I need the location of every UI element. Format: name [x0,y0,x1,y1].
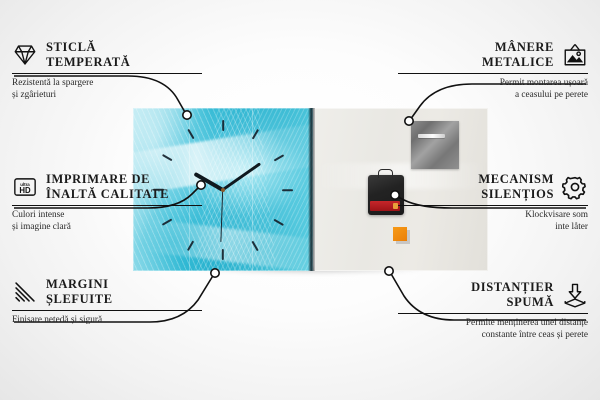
press-down-icon [562,282,588,308]
dial-tick [187,128,194,138]
clock-center-cap [221,188,225,192]
dial-tick [252,240,259,250]
svg-text:HD: HD [19,186,31,195]
feature-title: MARGINI ȘLEFUITE [46,277,113,307]
feature-metal-handles: MÂNERE METALICE Permit montarea ușoară a… [398,40,588,102]
feature-foam-spacer: DISTANȚIER SPUMĂ Permite menținerea unei… [398,280,588,342]
dial-tick [187,240,194,250]
feature-polished-edges: MARGINI ȘLEFUITE Finisare netedă și sigu… [12,277,202,326]
dial-tick [252,128,259,138]
feature-rule [398,205,588,206]
feature-header: MECANISM SILENȚIOS [398,172,588,202]
feature-header: MARGINI ȘLEFUITE [12,277,202,307]
feature-header: STICLĂ TEMPERATĂ [12,40,202,70]
feature-title: MÂNERE METALICE [482,40,554,70]
feature-rule [12,310,202,311]
picture-frame-icon [562,42,588,68]
metal-hanger-plate [411,121,459,169]
battery [370,201,400,211]
feature-description: Rezistentă la spargere și zgârieturi [12,77,202,102]
polished-edge-icon [12,279,38,305]
dial-tick [222,249,224,260]
feature-description: Permit montarea ușoară a ceasului pe per… [398,77,588,102]
feature-title: IMPRIMARE DE ÎNALTĂ CALITATE [46,172,169,202]
feature-title: STICLĂ TEMPERATĂ [46,40,130,70]
ultra-hd-icon: ultra HD [12,174,38,200]
diamond-icon [12,42,38,68]
dial-tick [222,120,224,131]
mechanism-hanger-loop [378,169,393,178]
dial-tick [162,154,172,161]
feature-header: ultra HD IMPRIMARE DE ÎNALTĂ CALITATE [12,172,202,202]
feature-silent-mechanism: MECANISM SILENȚIOS Klockvisare som inte … [398,172,588,234]
hanger-slot [418,134,445,138]
feature-title: DISTANȚIER SPUMĂ [471,280,554,310]
minute-hand [222,162,262,191]
feature-tempered-glass: STICLĂ TEMPERATĂ Rezistentă la spargere … [12,40,202,102]
panel-edge-shadow [308,108,315,271]
dial-tick [274,154,284,161]
dial-tick [274,218,284,225]
feature-header: DISTANȚIER SPUMĂ [398,280,588,310]
feature-description: Culori intense și imagine clară [12,209,202,234]
feature-rule [12,205,202,206]
feature-description: Finisare netedă și sigură [12,314,202,327]
second-hand [221,189,224,241]
feature-title: MECANISM SILENȚIOS [478,172,554,202]
feature-description: Permite menținerea unei distanțe constan… [398,317,588,342]
feature-high-quality-print: ultra HD IMPRIMARE DE ÎNALTĂ CALITATE Cu… [12,172,202,234]
feature-rule [398,313,588,314]
feature-header: MÂNERE METALICE [398,40,588,70]
feature-rule [12,73,202,74]
gear-icon [562,174,588,200]
feature-description: Klockvisare som inte låter [398,209,588,234]
dial-tick [282,189,293,191]
feature-rule [398,73,588,74]
